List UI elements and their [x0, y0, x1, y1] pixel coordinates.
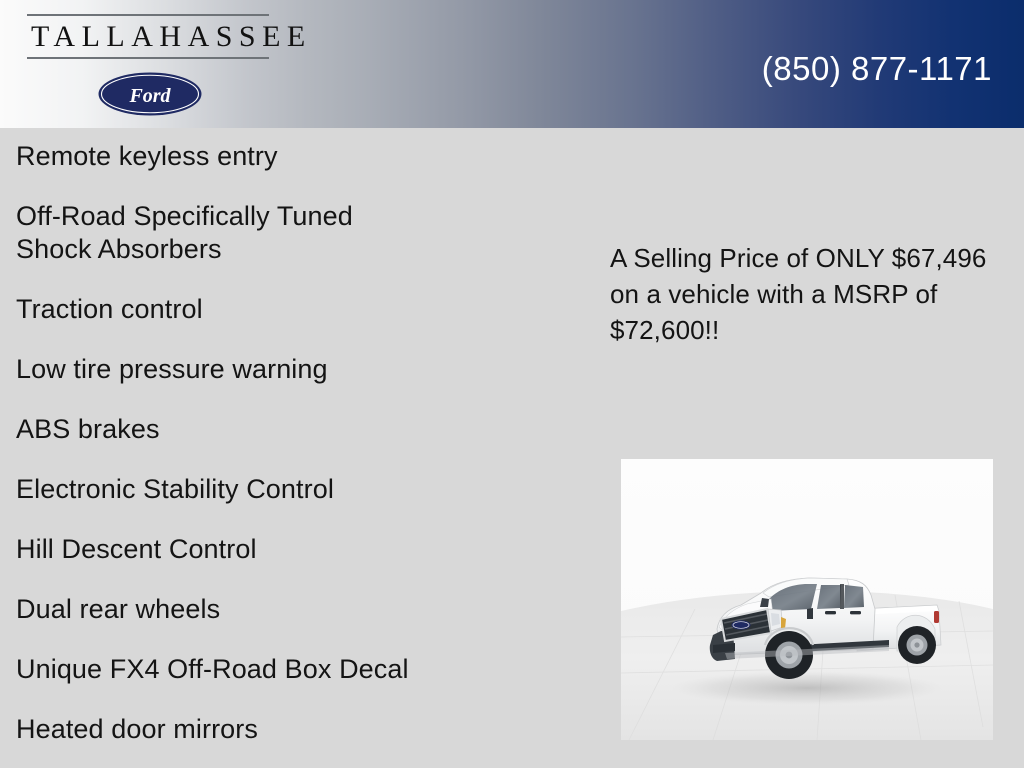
- list-item: Unique FX4 Off-Road Box Decal: [16, 653, 556, 686]
- dealer-wordmark: TALLAHASSEE: [27, 19, 269, 55]
- vehicle-photo[interactable]: [621, 459, 993, 740]
- list-item: ABS brakes: [16, 413, 556, 446]
- svg-text:Ford: Ford: [128, 85, 171, 107]
- list-item: Remote keyless entry: [16, 140, 556, 173]
- vehicle-feature-sheet: TALLAHASSEE Ford (850) 877-1171 Remote k…: [0, 0, 1024, 768]
- list-item: Hill Descent Control: [16, 533, 556, 566]
- vehicle-feature-list: Remote keyless entry Off-Road Specifical…: [16, 140, 556, 746]
- wordmark-rule-top: [27, 14, 269, 16]
- dealer-brand-block: TALLAHASSEE: [27, 14, 269, 59]
- list-item: Heated door mirrors: [16, 713, 556, 746]
- price-callout-text: A Selling Price of ONLY $67,496 on a veh…: [610, 240, 1000, 348]
- list-item: Electronic Stability Control: [16, 473, 556, 506]
- list-item: Traction control: [16, 293, 556, 326]
- ford-oval-icon: Ford: [98, 72, 202, 116]
- dealer-phone-number[interactable]: (850) 877-1171: [762, 50, 992, 88]
- list-item: Off-Road Specifically Tuned Shock Absorb…: [16, 200, 556, 266]
- wordmark-rule-bottom: [27, 57, 269, 59]
- dealer-header-banner: TALLAHASSEE Ford (850) 877-1171: [0, 0, 1024, 128]
- list-item: Low tire pressure warning: [16, 353, 556, 386]
- list-item: Dual rear wheels: [16, 593, 556, 626]
